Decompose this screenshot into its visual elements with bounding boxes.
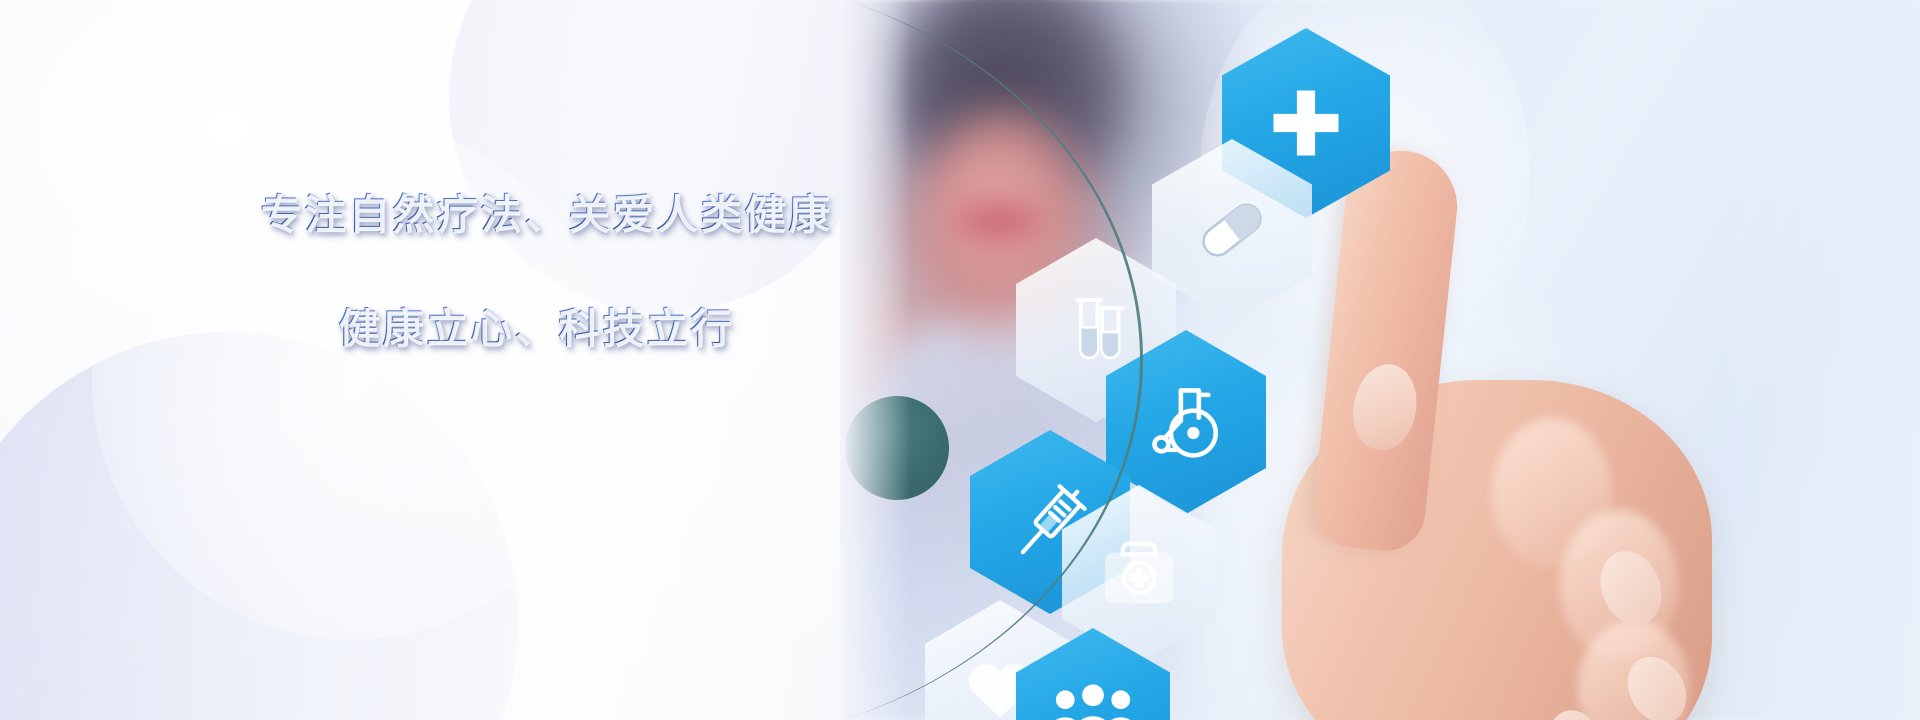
headline-line-1: 专注自然疗法、关爱人类健康 — [260, 186, 880, 242]
headline-line-2: 健康立心、科技立行 — [338, 300, 880, 356]
first-aid-kit-icon — [1097, 532, 1181, 616]
medical-cross-icon — [1267, 84, 1345, 162]
people-group-icon — [1048, 672, 1138, 720]
pointing-hand — [1242, 150, 1842, 720]
headline-block: 专注自然疗法、关爱人类健康 健康立心、科技立行 — [260, 186, 880, 356]
health-banner: 专注自然疗法、关爱人类健康 健康立心、科技立行 — [0, 0, 1920, 720]
pill-capsule-icon — [1188, 186, 1276, 274]
medical-photo-panel — [840, 0, 1920, 720]
teal-dot — [845, 396, 949, 500]
wheelchair-icon — [1142, 378, 1230, 466]
